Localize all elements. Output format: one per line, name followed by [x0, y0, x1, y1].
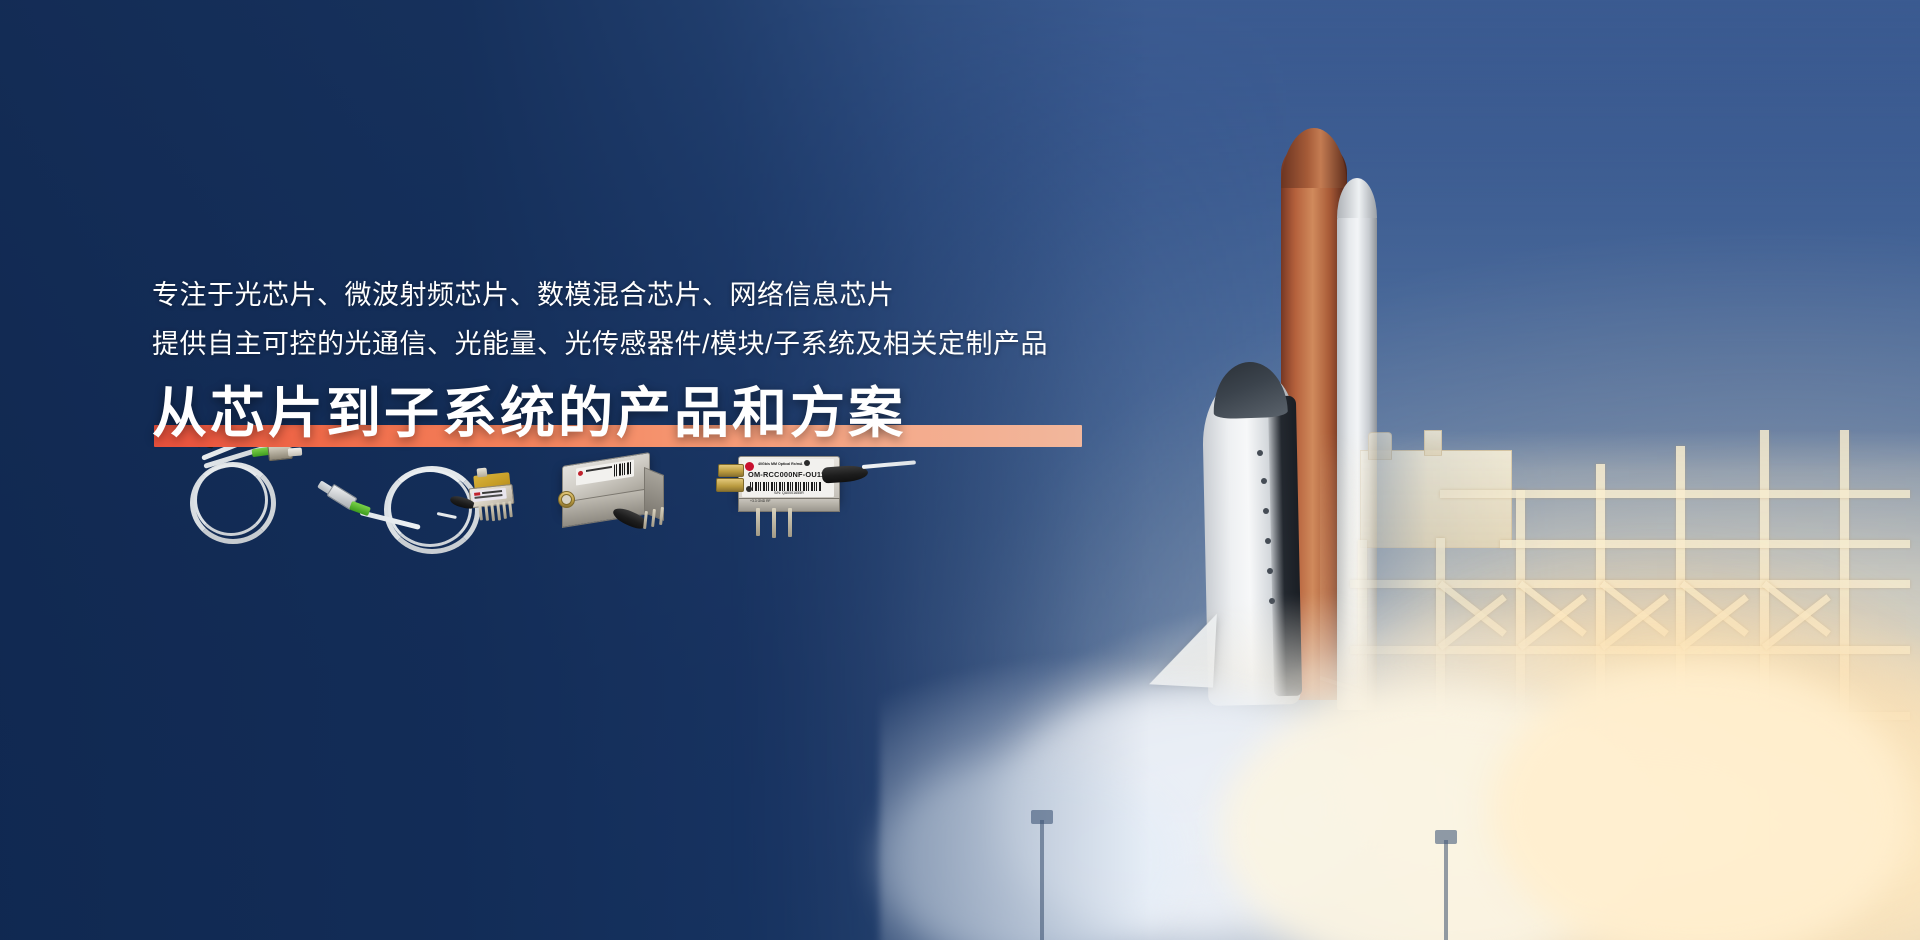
- tower-platform: [1620, 410, 1822, 428]
- floodlight-head-icon: [1031, 810, 1053, 824]
- banner-subline-2: 提供自主可控的光通信、光能量、光传感器件/模块/子系统及相关定制产品: [152, 331, 1132, 358]
- external-tank-nose-icon: [1281, 128, 1347, 188]
- orbiter-window-icon: [1261, 478, 1267, 484]
- orbiter-nose-cone: [1212, 361, 1288, 420]
- banner-headline-wrap: 从芯片到子系统的产品和方案: [152, 384, 906, 447]
- tower-stack-small: [1368, 432, 1392, 460]
- floodlight-pole: [1040, 820, 1044, 940]
- banner-copy-block: 专注于光芯片、微波射频芯片、数模混合芯片、网络信息芯片 提供自主可控的光通信、光…: [152, 282, 1132, 447]
- floodlight-pole: [1444, 840, 1448, 940]
- space-shuttle-launch-scene: [0, 0, 1920, 940]
- tower-stack-small: [1424, 430, 1442, 456]
- exhaust-smoke-puff: [1490, 660, 1910, 940]
- banner-headline: 从芯片到子系统的产品和方案: [152, 384, 906, 443]
- orbiter-window-icon: [1257, 450, 1263, 456]
- hero-banner: 40Gb/s MM Optical Rx/mA OM-RCC000NF-OU11…: [0, 0, 1920, 940]
- orbiter-window-icon: [1263, 508, 1269, 514]
- floodlight-head-icon: [1435, 830, 1457, 844]
- banner-subline-1: 专注于光芯片、微波射频芯片、数模混合芯片、网络信息芯片: [152, 282, 1132, 309]
